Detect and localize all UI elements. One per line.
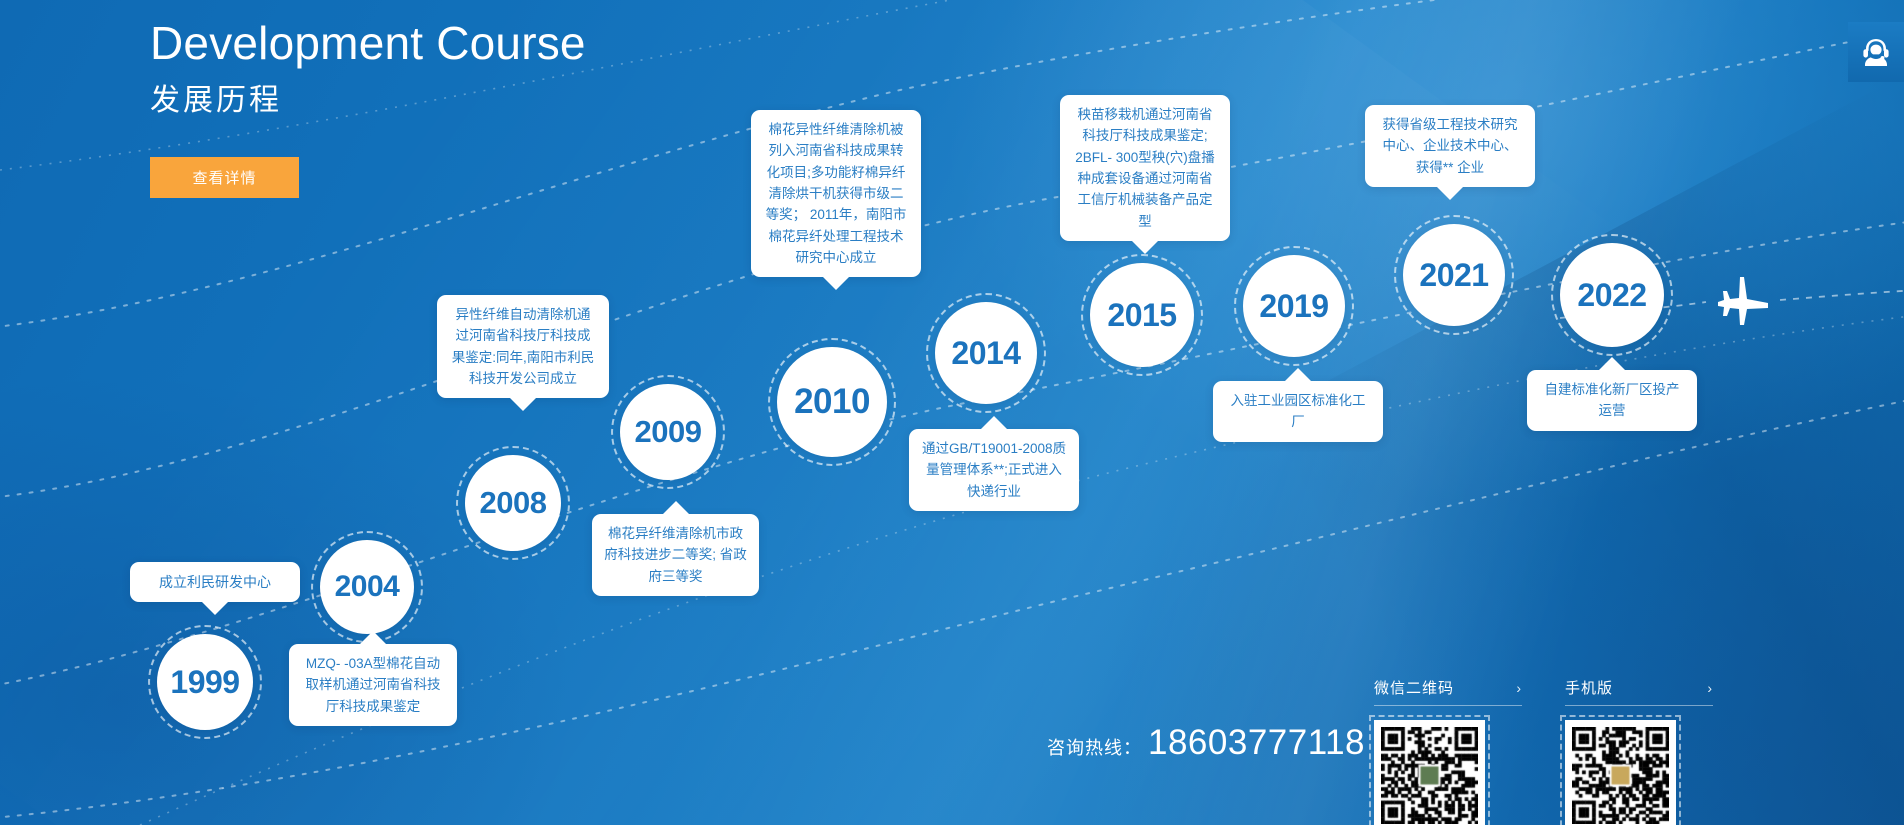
milestone-text: 自建标准化新厂区投产运营 bbox=[1545, 382, 1680, 418]
year-circle-2014[interactable]: 2014 bbox=[935, 302, 1037, 404]
milestone-card-2009[interactable]: 棉花异纤维清除机市政府科技进步二等奖; 省政府三等奖 bbox=[592, 514, 759, 596]
qr-mobile-image bbox=[1565, 720, 1676, 825]
card-pointer bbox=[510, 398, 536, 411]
milestone-text: 异性纤维自动清除机通过河南省科技厅科技成果鉴定:同年,南阳市利民科技开发公司成立 bbox=[452, 307, 595, 386]
card-pointer bbox=[360, 631, 386, 644]
year-label: 2010 bbox=[794, 382, 870, 422]
chevron-right-icon: › bbox=[1516, 680, 1522, 696]
qr-wechat-link[interactable]: 微信二维码 › bbox=[1374, 677, 1522, 706]
card-pointer bbox=[981, 416, 1007, 429]
qr-wechat-label: 微信二维码 bbox=[1374, 677, 1454, 698]
milestone-text: 棉花异纤维清除机市政府科技进步二等奖; 省政府三等奖 bbox=[604, 526, 747, 584]
chevron-right-icon: › bbox=[1707, 680, 1713, 696]
milestone-card-2008[interactable]: 异性纤维自动清除机通过河南省科技厅科技成果鉴定:同年,南阳市利民科技开发公司成立 bbox=[437, 295, 609, 398]
card-pointer bbox=[823, 277, 849, 290]
card-pointer bbox=[1599, 357, 1625, 370]
headset-service-icon bbox=[1859, 35, 1893, 69]
hotline-number[interactable]: 18603777118 bbox=[1148, 723, 1365, 763]
customer-service-button[interactable] bbox=[1848, 22, 1904, 82]
milestone-text: 通过GB/T19001-2008质量管理体系**;正式进入快递行业 bbox=[922, 441, 1066, 499]
milestone-text: 成立利民研发中心 bbox=[159, 574, 271, 590]
year-circle-2015[interactable]: 2015 bbox=[1090, 263, 1194, 367]
milestone-card-2015[interactable]: 秧苗移栽机通过河南省科技厅科技成果鉴定; 2BFL- 300型秧(穴)盘播种成套… bbox=[1060, 95, 1230, 241]
milestone-text: 棉花异性纤维清除机被列入河南省科技成果转化项目;多功能籽棉异纤清除烘干机获得市级… bbox=[766, 122, 907, 265]
year-label: 2019 bbox=[1259, 288, 1328, 325]
year-label: 1999 bbox=[170, 664, 239, 701]
year-label: 2008 bbox=[480, 485, 547, 521]
card-pointer bbox=[663, 501, 689, 514]
milestone-card-2021[interactable]: 获得省级工程技术研究中心、企业技术中心、获得** 企业 bbox=[1365, 105, 1535, 187]
qr-mobile-label: 手机版 bbox=[1565, 677, 1613, 698]
page-title-en: Development Course bbox=[150, 18, 586, 69]
year-label: 2021 bbox=[1419, 257, 1488, 294]
year-label: 2009 bbox=[635, 414, 702, 450]
milestone-text: 获得省级工程技术研究中心、企业技术中心、获得** 企业 bbox=[1383, 117, 1518, 175]
year-circle-1999[interactable]: 1999 bbox=[157, 634, 253, 730]
year-circle-2004[interactable]: 2004 bbox=[320, 540, 414, 634]
page-header: Development Course 发展历程 bbox=[150, 18, 586, 119]
page-stage: Development Course 发展历程 查看详情 1999 成立利民研发… bbox=[0, 0, 1904, 825]
milestone-card-2014[interactable]: 通过GB/T19001-2008质量管理体系**;正式进入快递行业 bbox=[909, 429, 1079, 511]
card-pointer bbox=[1285, 368, 1311, 381]
milestone-text: 秧苗移栽机通过河南省科技厅科技成果鉴定; 2BFL- 300型秧(穴)盘播种成套… bbox=[1075, 107, 1215, 229]
airplane-icon bbox=[1710, 275, 1774, 327]
milestone-text: MZQ- -03A型棉花自动取样机通过河南省科技厅科技成果鉴定 bbox=[306, 656, 441, 714]
qr-wechat-image bbox=[1374, 720, 1485, 825]
card-pointer bbox=[1132, 241, 1158, 254]
card-pointer bbox=[1437, 187, 1463, 200]
year-label: 2022 bbox=[1577, 277, 1646, 314]
qr-block-wechat: 微信二维码 › bbox=[1374, 677, 1522, 825]
year-label: 2014 bbox=[951, 335, 1020, 372]
milestone-card-1999[interactable]: 成立利民研发中心 bbox=[130, 562, 300, 602]
year-circle-2009[interactable]: 2009 bbox=[620, 384, 716, 480]
year-label: 2004 bbox=[335, 570, 400, 604]
year-circle-2022[interactable]: 2022 bbox=[1560, 243, 1664, 347]
year-label: 2015 bbox=[1107, 297, 1176, 334]
qr-block-mobile: 手机版 › bbox=[1565, 677, 1713, 825]
page-title-cn: 发展历程 bbox=[150, 83, 586, 119]
milestone-card-2004[interactable]: MZQ- -03A型棉花自动取样机通过河南省科技厅科技成果鉴定 bbox=[289, 644, 457, 726]
year-circle-2021[interactable]: 2021 bbox=[1403, 224, 1505, 326]
view-details-button[interactable]: 查看详情 bbox=[150, 157, 299, 198]
milestone-card-2010[interactable]: 棉花异性纤维清除机被列入河南省科技成果转化项目;多功能籽棉异纤清除烘干机获得市级… bbox=[751, 110, 921, 277]
milestone-card-2019[interactable]: 入驻工业园区标准化工厂 bbox=[1213, 381, 1383, 442]
qr-mobile-link[interactable]: 手机版 › bbox=[1565, 677, 1713, 706]
year-circle-2019[interactable]: 2019 bbox=[1243, 255, 1345, 357]
year-circle-2010[interactable]: 2010 bbox=[777, 347, 887, 457]
hotline: 咨询热线： 18603777118 bbox=[1047, 723, 1365, 763]
hotline-label: 咨询热线： bbox=[1047, 734, 1142, 760]
milestone-card-2022[interactable]: 自建标准化新厂区投产运营 bbox=[1527, 370, 1697, 431]
year-circle-2008[interactable]: 2008 bbox=[465, 455, 561, 551]
milestone-text: 入驻工业园区标准化工厂 bbox=[1231, 393, 1366, 429]
card-pointer bbox=[202, 602, 228, 615]
